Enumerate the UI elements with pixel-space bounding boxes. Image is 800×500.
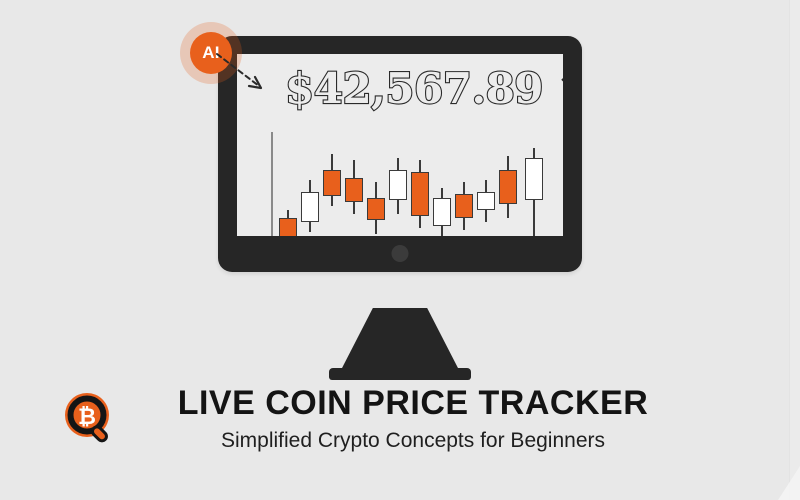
candle-7 [411, 132, 429, 236]
edge-notch [778, 466, 800, 500]
candle-body-down [345, 178, 363, 202]
candle-5 [367, 132, 385, 236]
monitor-screen: $42,567.89 ↑ ₿◆✳¥ [237, 54, 563, 236]
candle-body-up [477, 192, 495, 210]
footer-block: ₿ LIVE COIN PRICE TRACKER Simplified Cry… [0, 384, 800, 453]
candlestick-chart [271, 132, 559, 236]
chart-y-axis [271, 132, 273, 236]
candle-body-up [301, 192, 319, 222]
price-display: $42,567.89 ↑ [285, 68, 563, 110]
poster-canvas: $42,567.89 ↑ ₿◆✳¥ AI [0, 0, 800, 500]
candle-body-up [389, 170, 407, 200]
candle-9 [455, 132, 473, 236]
dashed-arrow-pointer-icon [215, 52, 275, 100]
candle-body-down [323, 170, 341, 196]
candle-12 [525, 132, 543, 236]
logo-bitcoin-symbol: ₿ [78, 405, 96, 430]
page-subtitle: Simplified Crypto Concepts for Beginners [26, 429, 800, 453]
monitor-stand [341, 308, 459, 370]
candle-body-down [279, 218, 297, 236]
candle-10 [477, 132, 495, 236]
trend-up-arrow-icon: ↑ [555, 68, 563, 106]
candle-1 [279, 132, 297, 236]
candle-4 [345, 132, 363, 236]
candle-body-up [525, 158, 543, 200]
candle-8 [433, 132, 451, 236]
page-title: LIVE COIN PRICE TRACKER [26, 384, 800, 423]
monitor-base [329, 368, 471, 380]
candle-6 [389, 132, 407, 236]
price-value: $42,567.89 [285, 68, 543, 110]
candle-body-down [411, 172, 429, 216]
candle-body-down [499, 170, 517, 204]
candle-3 [323, 132, 341, 236]
candle-body-down [455, 194, 473, 218]
candle-11 [499, 132, 517, 236]
candle-body-up [433, 198, 451, 226]
monitor-indicator-dot [392, 245, 409, 262]
candle-2 [301, 132, 319, 236]
bitcoin-magnifier-logo-icon: ₿ [62, 390, 118, 446]
candle-body-down [367, 198, 385, 220]
